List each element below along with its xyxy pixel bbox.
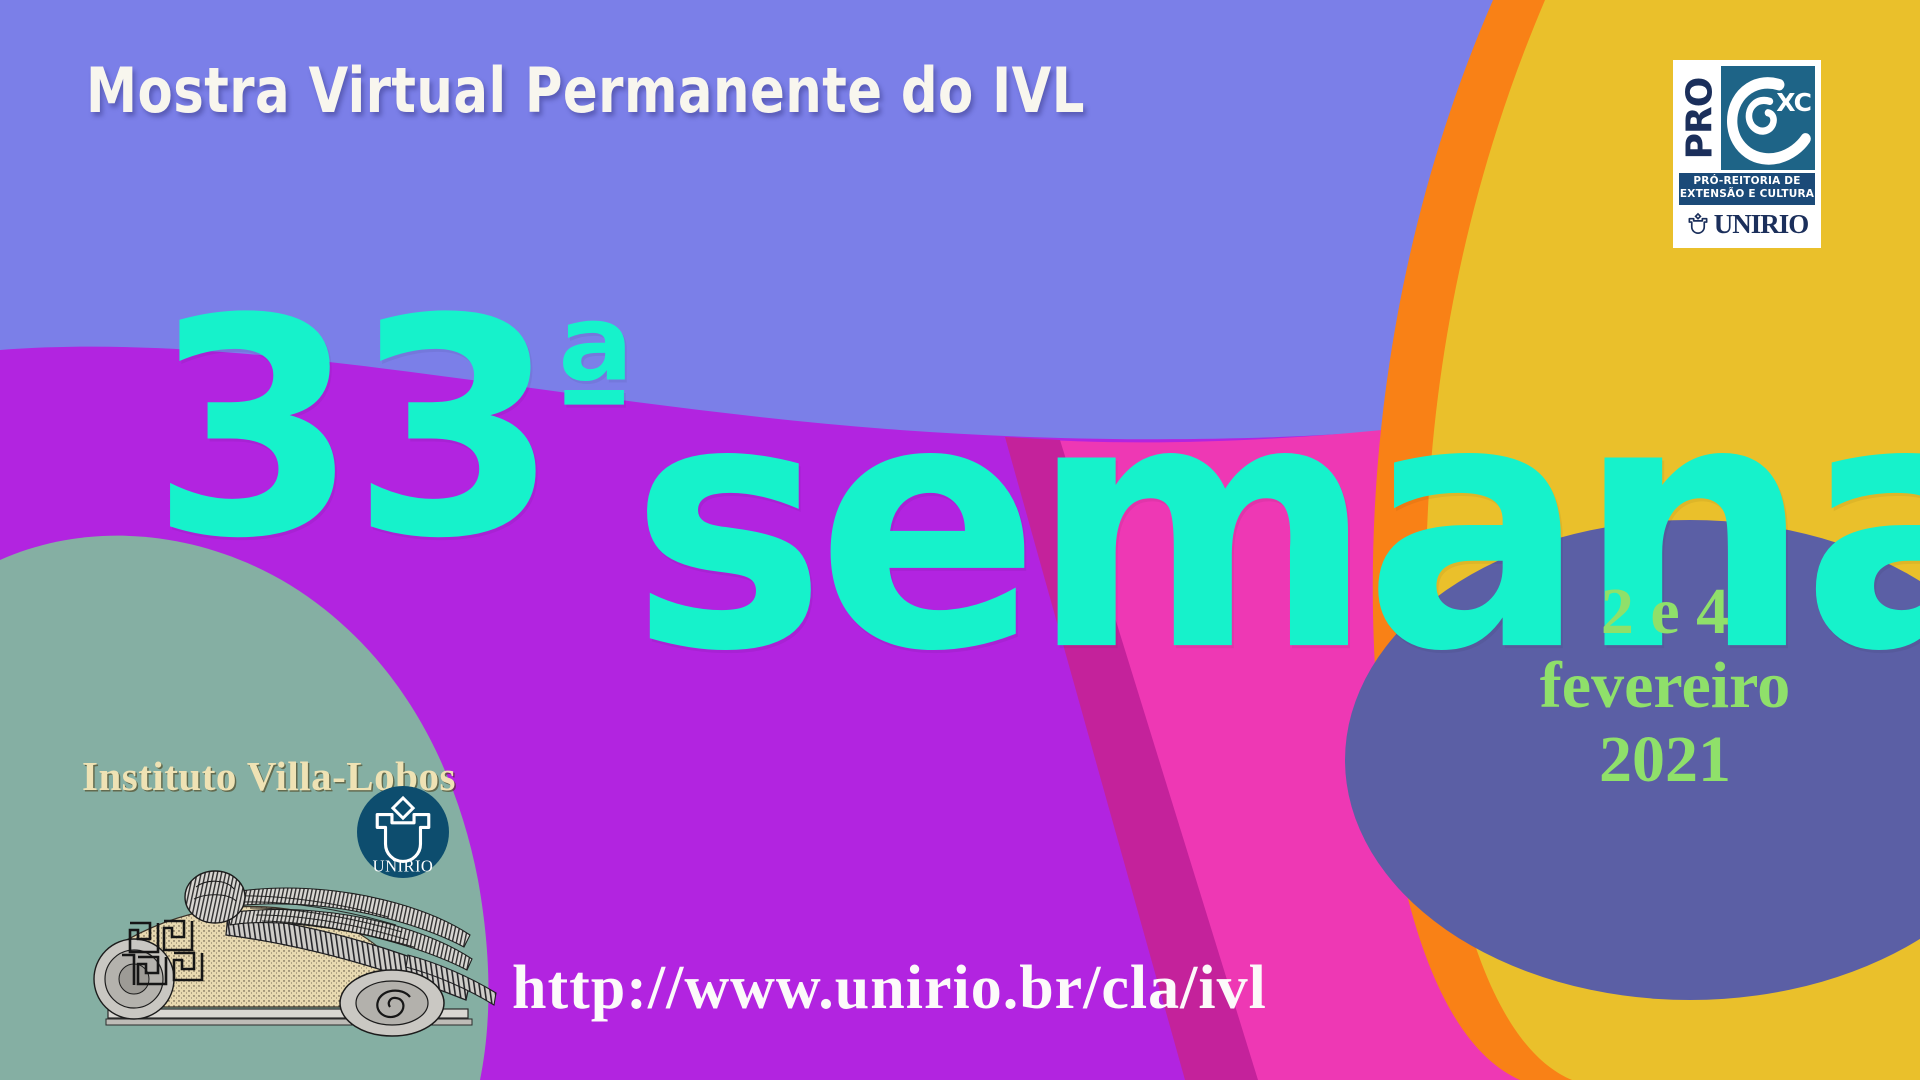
- event-date-year: 2021: [1455, 723, 1875, 797]
- edition-number-value: 33: [150, 255, 551, 604]
- proexc-spiral-square: XC: [1721, 66, 1815, 170]
- proexc-xc-text: XC: [1776, 88, 1811, 117]
- proexc-unirio-text: UNIRIO: [1714, 209, 1809, 240]
- proexc-logo: PRO XC PRÓ-REITORIA DE EXTENSÃO E CULTUR…: [1673, 60, 1821, 248]
- proexc-spiral-inner-icon: [1749, 100, 1774, 131]
- edition-number: 33ª: [150, 280, 636, 580]
- proexc-subtitle-line1: PRÓ-REITORIA DE: [1679, 175, 1815, 188]
- unirio-u-mark-icon: [1686, 212, 1710, 236]
- proexc-pro-text: PRO: [1680, 77, 1721, 159]
- event-date-days: 2 e 4: [1455, 575, 1875, 649]
- proexc-pro-text-block: PRO: [1679, 66, 1721, 170]
- proexc-subtitle-line2: EXTENSÃO E CULTURA: [1679, 188, 1815, 201]
- page-title: Mostra Virtual Permanente do IVL: [86, 58, 1085, 123]
- poster-canvas: Mostra Virtual Permanente do IVL 33ª sem…: [0, 0, 1920, 1080]
- edition-ordinal-mark: ª: [551, 294, 636, 468]
- event-date: 2 e 4 fevereiro 2021: [1455, 575, 1875, 797]
- proexc-logo-top: PRO XC: [1679, 66, 1815, 170]
- event-date-month: fevereiro: [1455, 649, 1875, 723]
- proexc-subtitle-bar: PRÓ-REITORIA DE EXTENSÃO E CULTURA: [1679, 173, 1815, 205]
- proexc-unirio-row: UNIRIO: [1679, 209, 1815, 240]
- unirio-circular-emblem: UNIRIO: [357, 786, 449, 878]
- event-url[interactable]: http://www.unirio.br/cla/ivl: [512, 953, 1267, 1024]
- unirio-emblem-label: UNIRIO: [373, 857, 434, 876]
